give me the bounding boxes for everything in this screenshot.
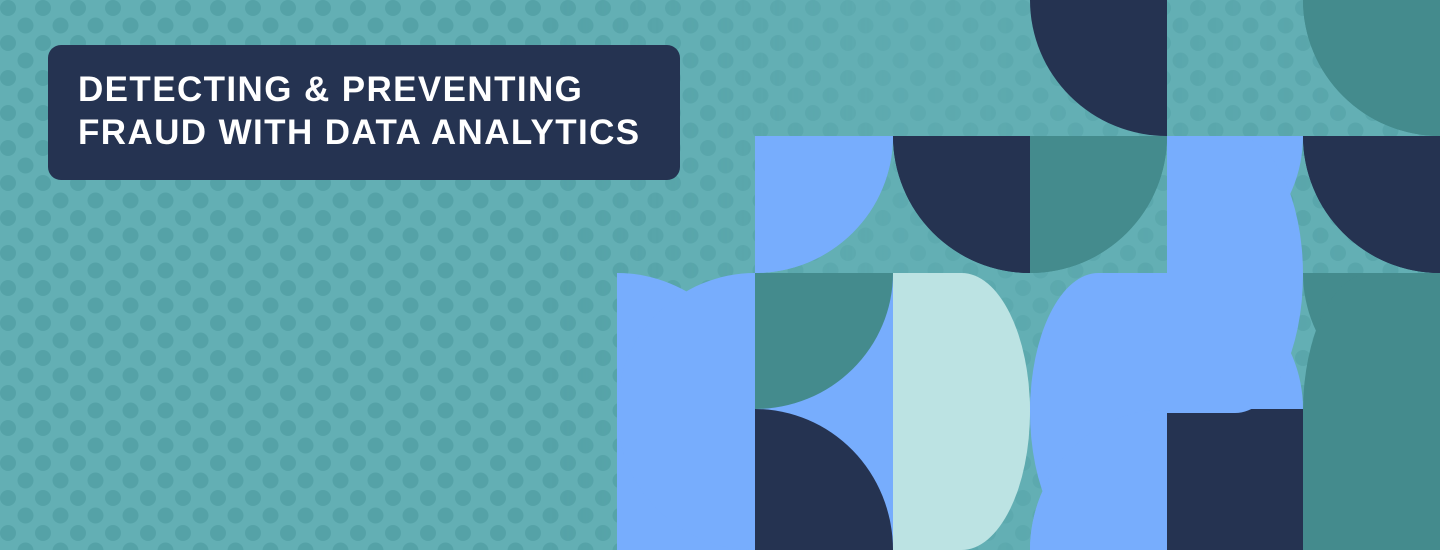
mosaic-tile	[755, 409, 893, 550]
mosaic-tile	[1030, 136, 1167, 273]
mosaic-tile	[1030, 409, 1167, 550]
mosaic-tile	[893, 273, 1030, 550]
page-title: DETECTING & PREVENTING FRAUD WITH DATA A…	[48, 69, 680, 154]
mosaic-tile	[755, 273, 893, 409]
mosaic-tile	[1303, 409, 1440, 550]
mosaic-tile	[755, 136, 893, 273]
mosaic-tile	[893, 136, 1030, 273]
banner-title-card: DETECTING & PREVENTING FRAUD WITH DATA A…	[48, 45, 680, 180]
mosaic-tile	[1167, 409, 1303, 550]
marketing-banner: DETECTING & PREVENTING FRAUD WITH DATA A…	[0, 0, 1440, 550]
mosaic-tile	[1303, 136, 1440, 273]
mosaic-tile	[1167, 136, 1303, 413]
mosaic-tile	[1030, 0, 1167, 136]
mosaic-tile	[1303, 0, 1440, 136]
